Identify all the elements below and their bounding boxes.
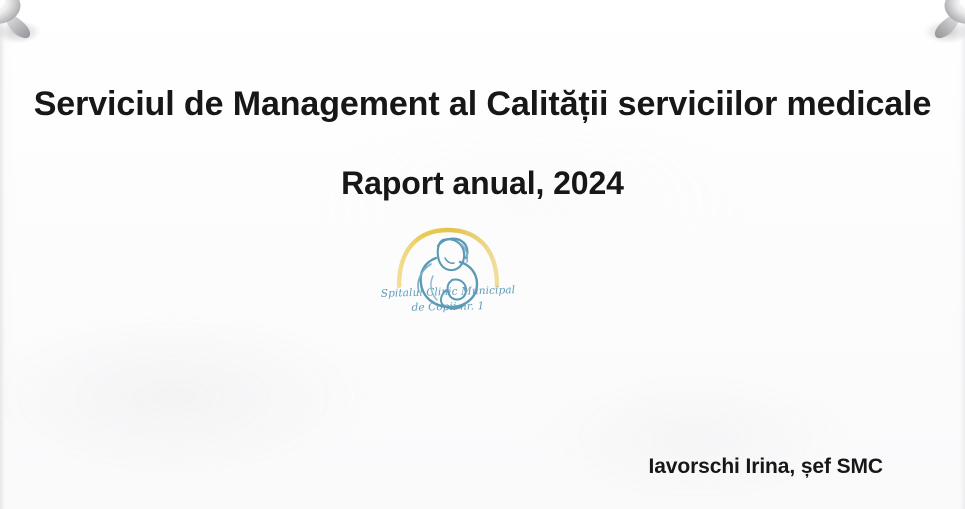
mother-and-child-icon bbox=[373, 224, 523, 330]
presentation-slide: Serviciul de Management al Calității ser… bbox=[0, 0, 965, 509]
push-pin-icon bbox=[0, 0, 56, 54]
author-credit: Iavorschi Irina, șef SMC bbox=[0, 455, 883, 479]
hospital-logo: Spitalul Clinic Municipal de Copii nr. 1 bbox=[373, 224, 523, 330]
page-title: Serviciul de Management al Calității ser… bbox=[0, 84, 965, 124]
slide-subtitle: Raport anual, 2024 bbox=[0, 165, 965, 203]
push-pin-icon bbox=[909, 0, 965, 54]
